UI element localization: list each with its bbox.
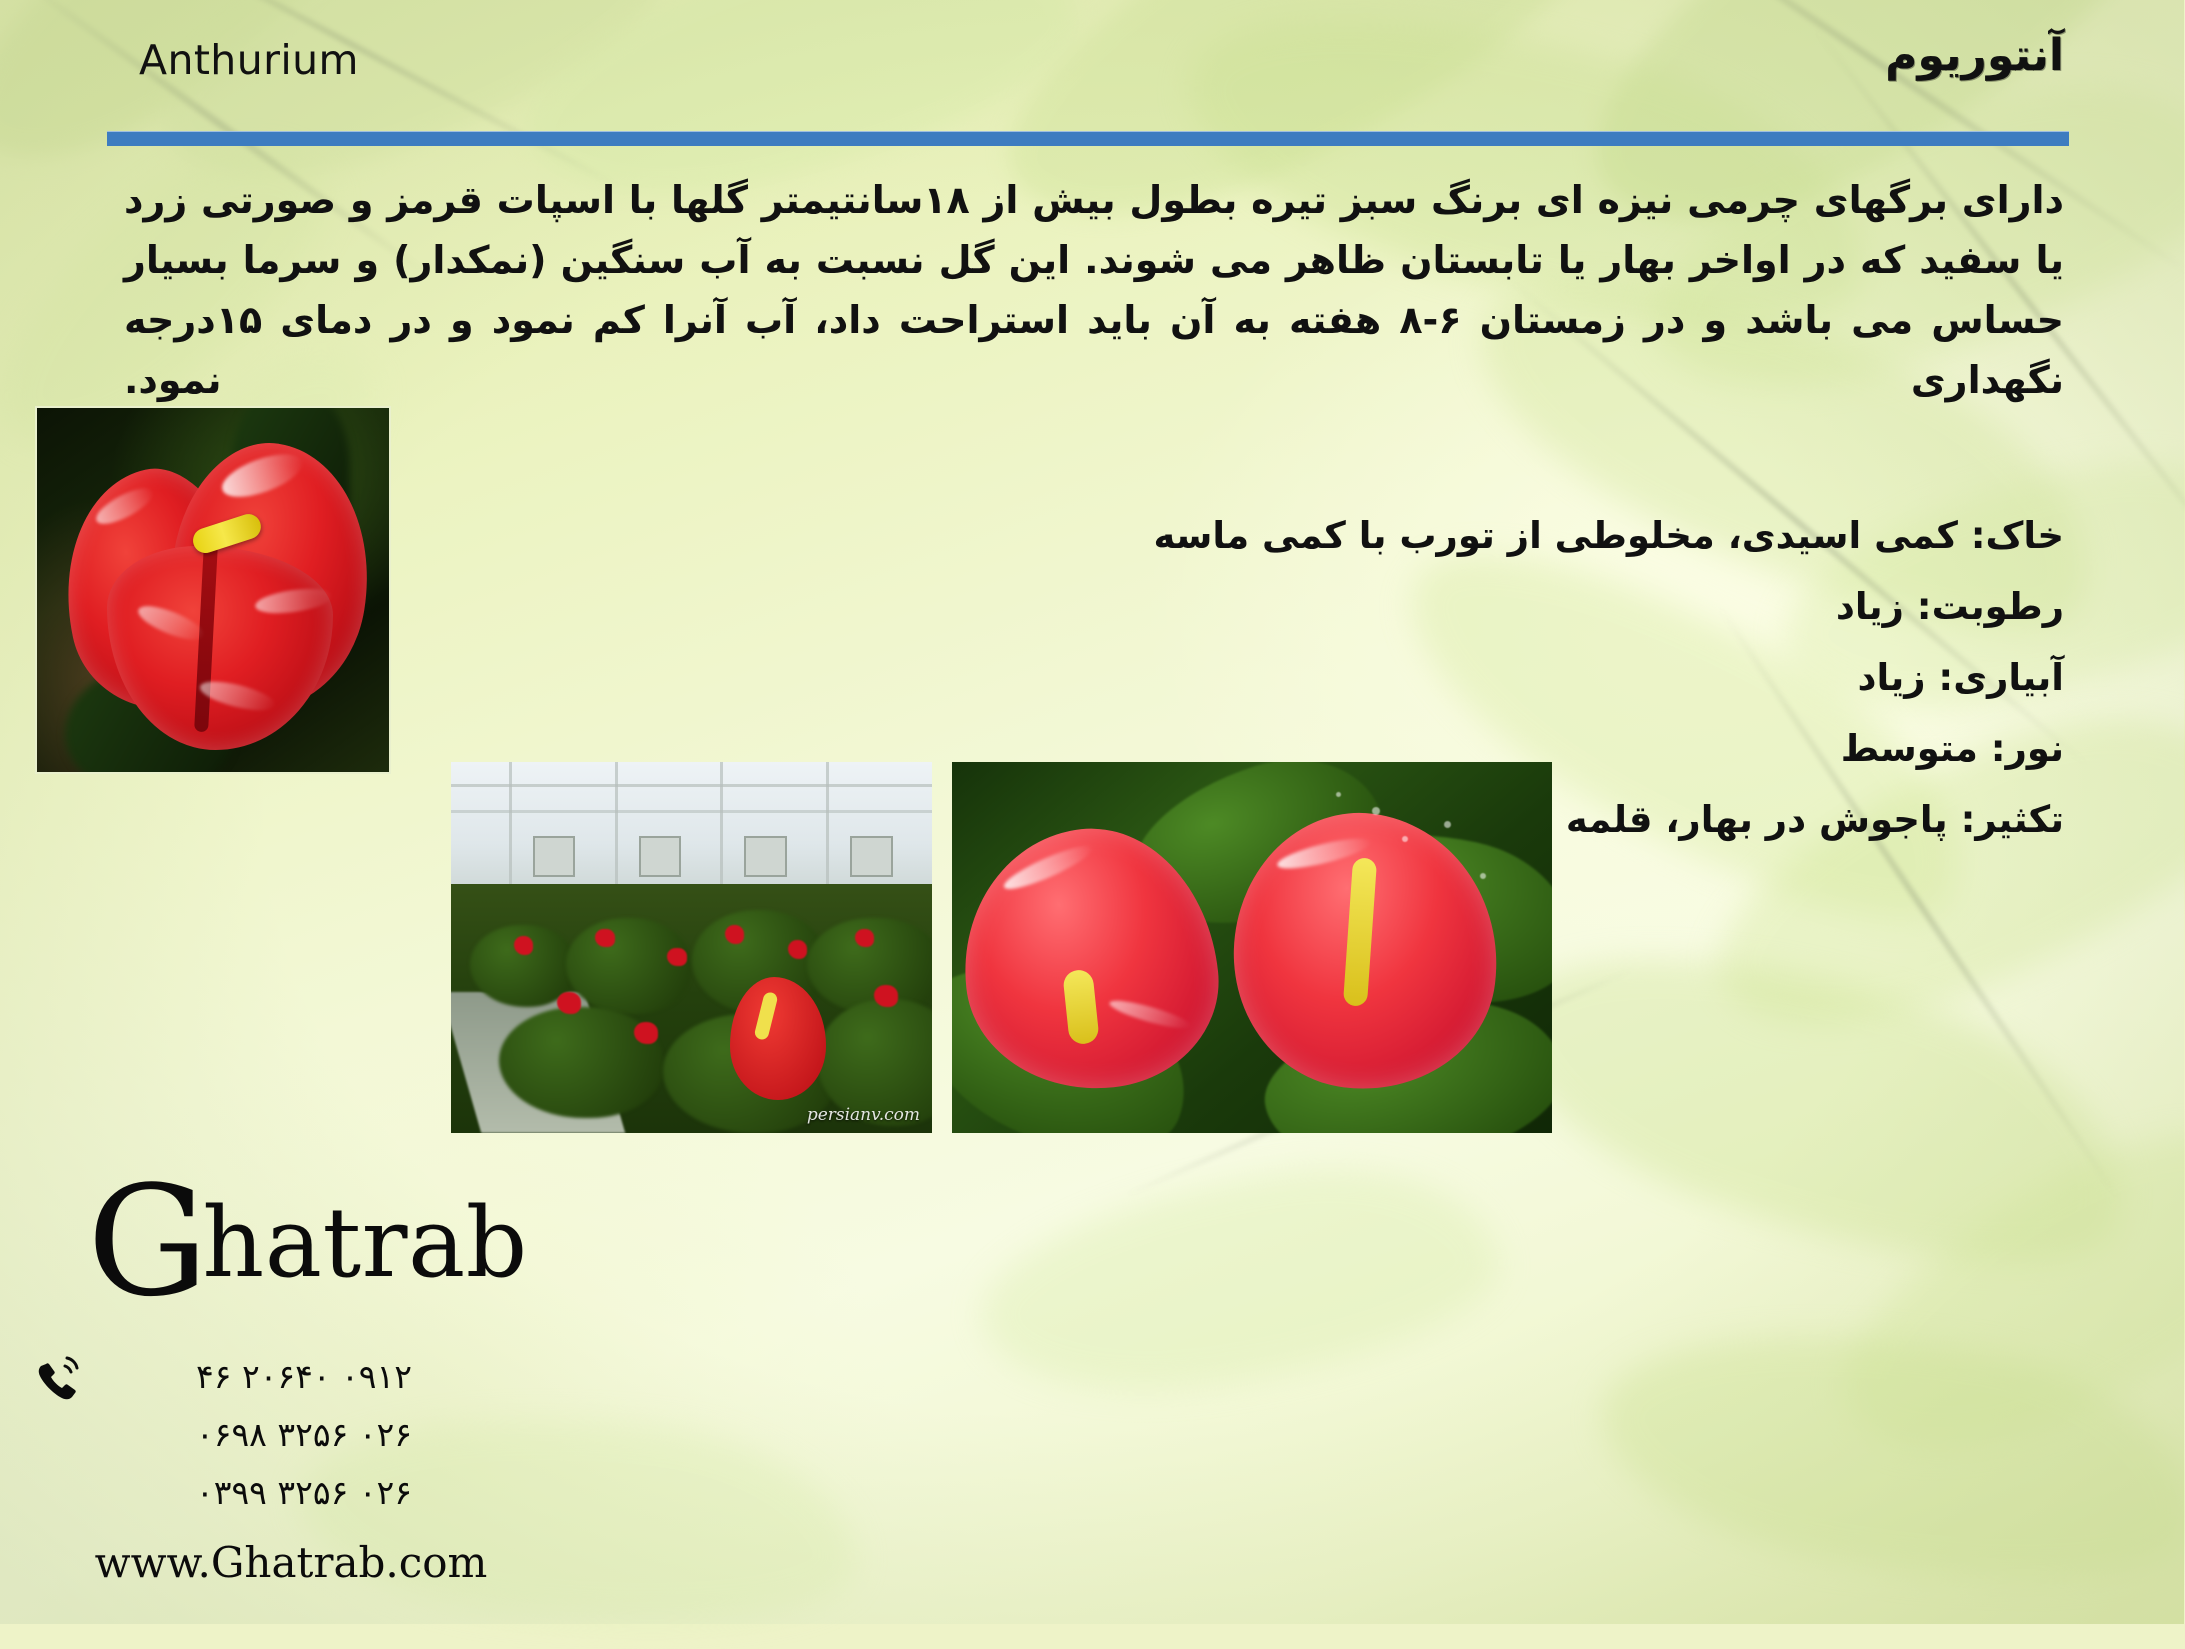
care-item-humidity: رطوبت: زیاد <box>125 571 2065 642</box>
brand-logo: Ghatrab <box>88 1166 529 1318</box>
website-url[interactable]: www.Ghatrab.com <box>92 1538 492 1587</box>
care-item-watering: آبیاری: زیاد <box>125 642 2065 713</box>
image-watermark: persianv.com <box>808 1105 921 1125</box>
red-anthurium-image <box>38 408 390 772</box>
phone-number-line-2: ۰۲۶ ۳۲۵۶ ۰۳۹۹ <box>110 1464 500 1522</box>
title-divider-rule <box>108 131 2070 146</box>
page-title-persian: آنتوریوم <box>1886 30 2065 81</box>
contact-phone-list: ۰۹۱۲ ۲۰۶۴۰ ۴۶ ۰۲۶ ۳۲۵۶ ۰۶۹۸ ۰۲۶ ۳۲۵۶ ۰۳۹… <box>110 1348 500 1522</box>
phone-number-mobile: ۰۹۱۲ ۲۰۶۴۰ ۴۶ <box>110 1348 500 1406</box>
description-paragraph: دارای برگهای چرمی نیزه ای برنگ سبز تیره … <box>125 170 2065 410</box>
phone-number-line-1: ۰۲۶ ۳۲۵۶ ۰۶۹۸ <box>110 1406 500 1464</box>
photo-two-pink-anthuriums <box>953 762 1553 1133</box>
phone-ringing-icon <box>32 1352 88 1408</box>
logo-wordmark: hatrab <box>203 1187 528 1299</box>
page-title-latin: Anthurium <box>140 36 360 84</box>
photo-red-anthurium-closeup <box>36 406 392 774</box>
photo-greenhouse-anthurium-rows: persianv.com <box>452 762 933 1133</box>
greenhouse-image: persianv.com <box>452 762 933 1133</box>
pink-anthuriums-image <box>953 762 1553 1133</box>
care-item-soil: خاک: کمی اسیدی، مخلوطی از تورب با کمی ما… <box>125 500 2065 571</box>
logo-initial-g: G <box>88 1153 203 1330</box>
description-text-block: دارای برگهای چرمی نیزه ای برنگ سبز تیره … <box>125 170 2065 412</box>
